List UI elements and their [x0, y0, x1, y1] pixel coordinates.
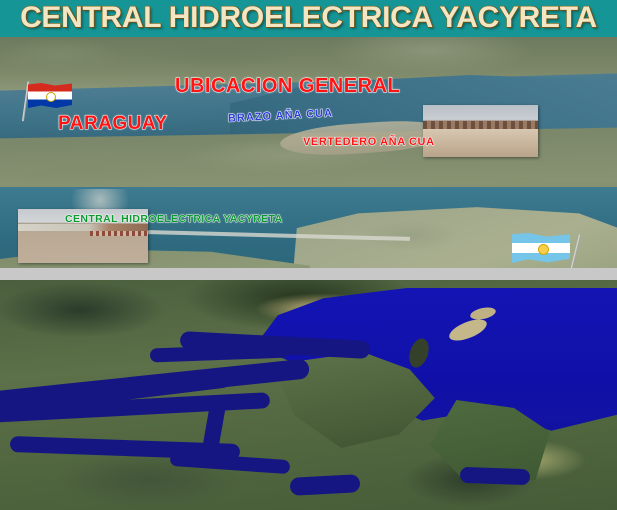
label-central-hidroelectrica-yacyreta: CENTRAL HIDROELECTRICA YACYRETA	[65, 213, 283, 225]
powerhouse-deck	[18, 224, 148, 230]
top-map-panel: UBICACION GENERAL PARAGUAY BRAZO AÑA CUA…	[0, 37, 617, 268]
label-paraguay: PARAGUAY	[58, 113, 168, 135]
argentina-flag-icon	[512, 233, 584, 268]
pond-south-1	[290, 474, 361, 496]
slide-header: CENTRAL HIDROELECTRICA YACYRETA	[0, 0, 617, 37]
paraguay-flag-emblem	[46, 92, 56, 102]
slide-root: CENTRAL HIDROELECTRICA YACYRETA	[0, 0, 617, 510]
label-vertedero-ana-cua: VERTEDERO AÑA CUA	[303, 136, 435, 148]
bottom-map-panel: LO PRIMERO: COMO SE DISTRIBUYE EL AGUA A…	[0, 280, 617, 510]
page-title: CENTRAL HIDROELECTRICA YACYRETA	[0, 0, 617, 37]
spillway-water-foam	[423, 129, 538, 157]
argentina-sun-emblem	[538, 244, 549, 255]
label-ubicacion-general: UBICACION GENERAL	[175, 75, 400, 98]
powerhouse-turbine-units	[90, 231, 149, 236]
panel-divider	[0, 268, 617, 280]
pond-south-2	[460, 467, 531, 485]
urban-area	[60, 189, 140, 211]
spillway-gates	[423, 121, 538, 129]
spillway-photo-inset	[423, 105, 538, 157]
